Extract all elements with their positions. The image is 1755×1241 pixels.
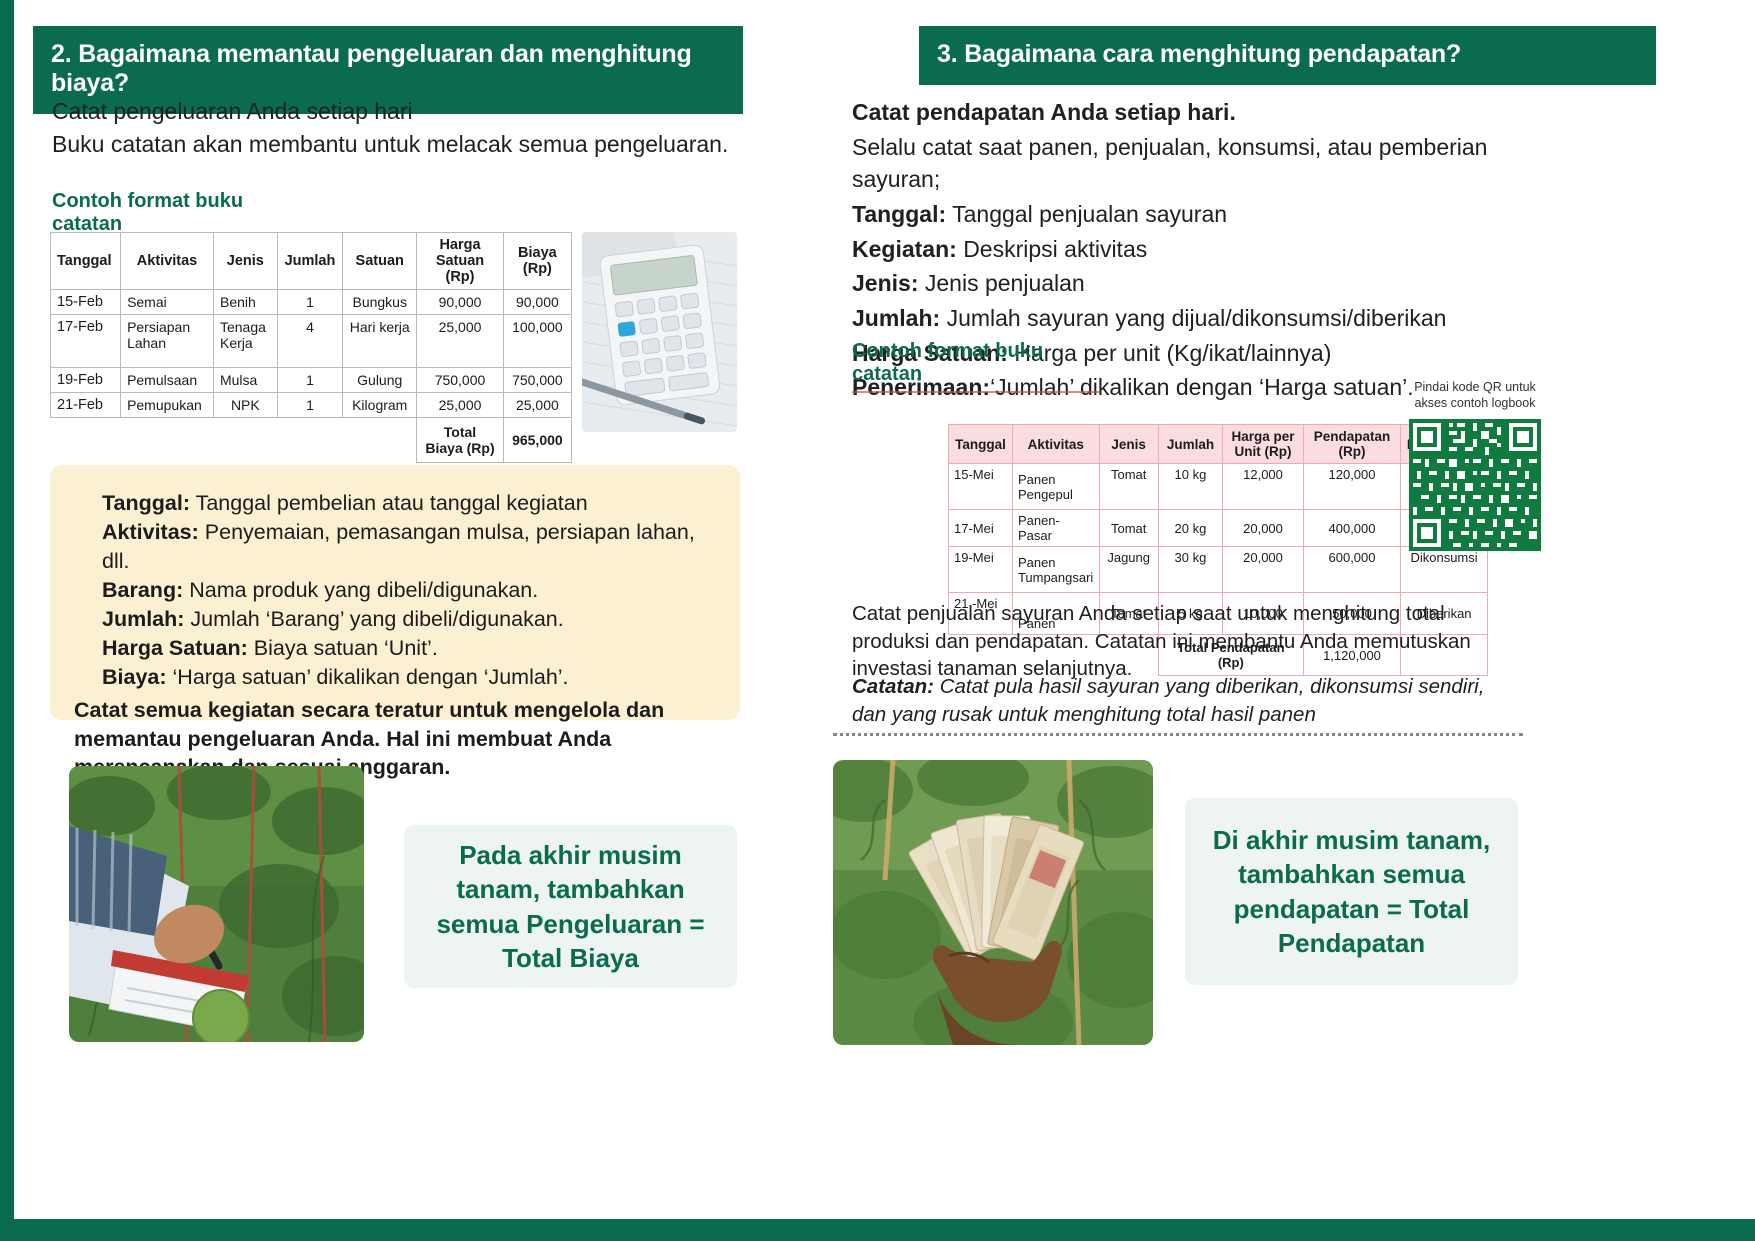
field-label: Tanggal: [852,201,946,227]
cream-label: Harga Satuan: [102,636,248,660]
inc-th-aktivitas: Aktivitas [1012,425,1099,464]
cost-cell-biaya: 90,000 [503,290,571,315]
notebook-photo-art [69,766,364,1042]
cream-field-row: Tanggal: Tanggal pembelian atau tanggal … [102,489,712,518]
cost-cell-harga: 25,000 [417,393,504,418]
inc-cell-harga: 20,000 [1223,510,1304,547]
cost-cell-tanggal: 17-Feb [51,315,121,368]
cost-th-harga-satuan: Harga Satuan (Rp) [417,233,504,290]
cream-text: ‘Harga satuan’ dikalikan dengan ‘Jumlah’… [173,665,569,689]
inc-cell-jumlah: 30 kg [1158,547,1222,593]
inc-cell-jumlah: 20 kg [1158,510,1222,547]
intro-line-1: Catat pengeluaran Anda setiap hari [52,95,792,128]
intro-bold-line: Catat pendapatan Anda setiap hari. [852,96,1552,129]
inc-cell-pendapatan: 120,000 [1303,464,1400,510]
left-green-spine [0,0,14,1219]
field-text: Jumlah sayuran yang dijual/dikonsumsi/di… [947,305,1447,331]
income-note-label: Catatan: [852,675,934,698]
inc-cell-jenis: Tomat [1099,510,1158,547]
field-text: Tanggal penjualan sayuran [952,201,1227,227]
field-row-tanggal: Tanggal: Tanggal penjualan sayuran [852,198,1552,231]
table-row: 17-Feb Persiapan Lahan Tenaga Kerja 4 Ha… [51,315,572,368]
qr-caption-line-1: Pindai kode QR untuk [1390,380,1560,396]
right-callout-box: Di akhir musim tanam, tambahkan semua pe… [1185,798,1518,985]
spacer-cell [51,418,121,463]
cost-cell-tanggal: 15-Feb [51,290,121,315]
field-text: Deskripsi aktivitas [963,236,1147,262]
cost-table-header-row: Tanggal Aktivitas Jenis Jumlah Satuan Ha… [51,233,572,290]
cost-cell-satuan: Bungkus [343,290,417,315]
cost-cell-jumlah: 4 [277,315,343,368]
cream-text: Tanggal pembelian atau tanggal kegiatan [196,491,588,515]
cost-cell-biaya: 25,000 [503,393,571,418]
table-row: 19-Feb Pemulsaan Mulsa 1 Gulung 750,000 … [51,368,572,393]
cost-cell-tanggal: 19-Feb [51,368,121,393]
money-photo-art [833,760,1153,1045]
field-label: Kegiatan: [852,236,957,262]
qr-caption-line-2: akses contoh logbook [1390,396,1560,412]
inc-cell-tanggal: 19-Mei [949,547,1013,593]
cost-th-satuan: Satuan [343,233,417,290]
cost-total-row: Total Biaya (Rp) 965,000 [51,418,572,463]
cost-cell-jenis: Benih [213,290,277,315]
cream-label: Barang: [102,578,183,602]
inc-th-harga-per-unit: Harga per Unit (Rp) [1223,425,1304,464]
cost-th-aktivitas: Aktivitas [121,233,214,290]
field-text: Jenis penjualan [925,270,1085,296]
section-2-intro: Catat pengeluaran Anda setiap hari Buku … [52,95,792,160]
inc-cell-aktivitas: Panen-Pasar [1012,510,1099,547]
cost-cell-aktivitas: Pemulsaan [121,368,214,393]
intro-line-2: Buku catatan akan membantu untuk melacak… [52,128,792,161]
cost-cell-jumlah: 1 [277,393,343,418]
cream-label: Jumlah: [102,607,184,631]
cost-total-value: 965,000 [503,418,571,463]
inc-cell-harga: 20,000 [1223,547,1304,593]
cost-table-subtitle-text: Contoh format buku catatan [52,190,243,235]
income-table-subtitle-text: Contoh format buku catatan [852,340,1043,385]
field-label: Jenis: [852,270,918,296]
cost-cell-jenis: NPK [213,393,277,418]
subtitle-underline [852,391,1100,393]
income-note: Catatan: Catat pula hasil sayuran yang d… [852,673,1524,728]
inc-cell-pendapatan: 400,000 [1303,510,1400,547]
cost-th-biaya: Biaya (Rp) [503,233,571,290]
intro-line-2: Selalu catat saat panen, penjualan, kons… [852,131,1552,196]
section-3-header: 3. Bagaimana cara menghitung pendapatan? [919,26,1656,85]
income-table-subtitle: Contoh format buku catatan [852,340,1100,393]
inc-cell-aktivitas: Panen Tumpangsari [1012,547,1099,593]
right-callout-text: Di akhir musim tanam, tambahkan semua pe… [1203,823,1500,960]
inc-cell-jenis: Tomat [1099,464,1158,510]
cost-cell-jumlah: 1 [277,290,343,315]
cream-field-row: Biaya: ‘Harga satuan’ dikalikan dengan ‘… [102,663,712,692]
left-callout-text: Pada akhir musim tanam, tambahkan semua … [422,838,719,975]
farmer-writing-notebook-photo [69,766,364,1042]
inc-cell-jumlah: 10 kg [1158,464,1222,510]
field-label: Jumlah: [852,305,940,331]
cream-field-row: Jumlah: Jumlah ‘Barang’ yang dibeli/digu… [102,605,712,634]
dotted-divider [833,733,1523,736]
cost-cell-jumlah: 1 [277,368,343,393]
left-callout-box: Pada akhir musim tanam, tambahkan semua … [404,825,737,988]
cost-cell-harga: 90,000 [417,290,504,315]
inc-cell-harga: 12,000 [1223,464,1304,510]
field-row-jenis: Jenis: Jenis penjualan [852,267,1552,300]
brochure-page: 2. Bagaimana memantau pengeluaran dan me… [0,0,1755,1241]
qr-caption: Pindai kode QR untuk akses contoh logboo… [1390,380,1560,411]
inc-cell-aktivitas: Panen Pengepul [1012,464,1099,510]
cost-cell-tanggal: 21-Feb [51,393,121,418]
cost-cell-aktivitas: Semai [121,290,214,315]
spacer-cell [121,418,214,463]
table-row: 19-Mei Panen Tumpangsari Jagung 30 kg 20… [949,547,1488,593]
inc-th-jumlah: Jumlah [1158,425,1222,464]
spacer-cell [213,418,277,463]
cream-label: Biaya: [102,665,167,689]
inc-th-pendapatan: Pendapatan (Rp) [1303,425,1400,464]
inc-th-tanggal: Tanggal [949,425,1013,464]
cost-th-jumlah: Jumlah [277,233,343,290]
cost-cell-satuan: Kilogram [343,393,417,418]
income-note-text: Catat pula hasil sayuran yang diberikan,… [852,675,1484,726]
cream-text: Biaya satuan ‘Unit’. [254,636,438,660]
cost-logbook-table: Tanggal Aktivitas Jenis Jumlah Satuan Ha… [50,232,572,463]
cost-cell-jenis: Mulsa [213,368,277,393]
cost-cell-harga: 750,000 [417,368,504,393]
table-row: 21-Feb Pemupukan NPK 1 Kilogram 25,000 2… [51,393,572,418]
cost-cell-aktivitas: Pemupukan [121,393,214,418]
spacer-cell [277,418,343,463]
cream-text: Jumlah ‘Barang’ yang dibeli/digunakan. [190,607,563,631]
inc-cell-tanggal: 17-Mei [949,510,1013,547]
cost-cell-harga: 25,000 [417,315,504,368]
income-paragraph: Catat penjualan sayuran Anda setiap saat… [852,600,1524,683]
cream-label: Tanggal: [102,491,190,515]
footer-green-bar [0,1219,1755,1241]
cost-total-label: Total Biaya (Rp) [417,418,504,463]
section-3-title: 3. Bagaimana cara menghitung pendapatan? [937,40,1461,68]
cost-cell-biaya: 100,000 [503,315,571,368]
cost-cell-jenis: Tenaga Kerja [213,315,277,368]
qr-code-art [1409,419,1541,551]
hand-holding-money-photo [833,760,1153,1045]
cost-cell-satuan: Hari kerja [343,315,417,368]
inc-cell-tanggal: 15-Mei [949,464,1013,510]
spacer-cell [343,418,417,463]
qr-code-icon[interactable] [1409,419,1541,551]
inc-th-jenis: Jenis [1099,425,1158,464]
section-2-title: 2. Bagaimana memantau pengeluaran dan me… [51,40,692,97]
cost-definitions-box: Tanggal: Tanggal pembelian atau tanggal … [50,465,740,720]
field-row-kegiatan: Kegiatan: Deskripsi aktivitas [852,233,1552,266]
calculator-photo-art [582,232,737,432]
field-row-jumlah: Jumlah: Jumlah sayuran yang dijual/dikon… [852,302,1552,335]
inc-cell-jenis: Jagung [1099,547,1158,593]
qr-block: Pindai kode QR untuk akses contoh logboo… [1390,380,1560,551]
cream-field-row: Barang: Nama produk yang dibeli/digunaka… [102,576,712,605]
cream-text: Nama produk yang dibeli/digunakan. [189,578,538,602]
table-row: 15-Feb Semai Benih 1 Bungkus 90,000 90,0… [51,290,572,315]
cost-cell-satuan: Gulung [343,368,417,393]
calculator-notebook-photo [582,232,737,432]
cost-th-jenis: Jenis [213,233,277,290]
inc-cell-pendapatan: 600,000 [1303,547,1400,593]
cream-field-row: Aktivitas: Penyemaian, pemasangan mulsa,… [102,518,712,576]
inc-cell-keterangan: Dikonsumsi [1401,547,1488,593]
cost-cell-biaya: 750,000 [503,368,571,393]
cream-field-row: Harga Satuan: Biaya satuan ‘Unit’. [102,634,712,663]
cream-label: Aktivitas: [102,520,199,544]
cost-th-tanggal: Tanggal [51,233,121,290]
cost-cell-aktivitas: Persiapan Lahan [121,315,214,368]
